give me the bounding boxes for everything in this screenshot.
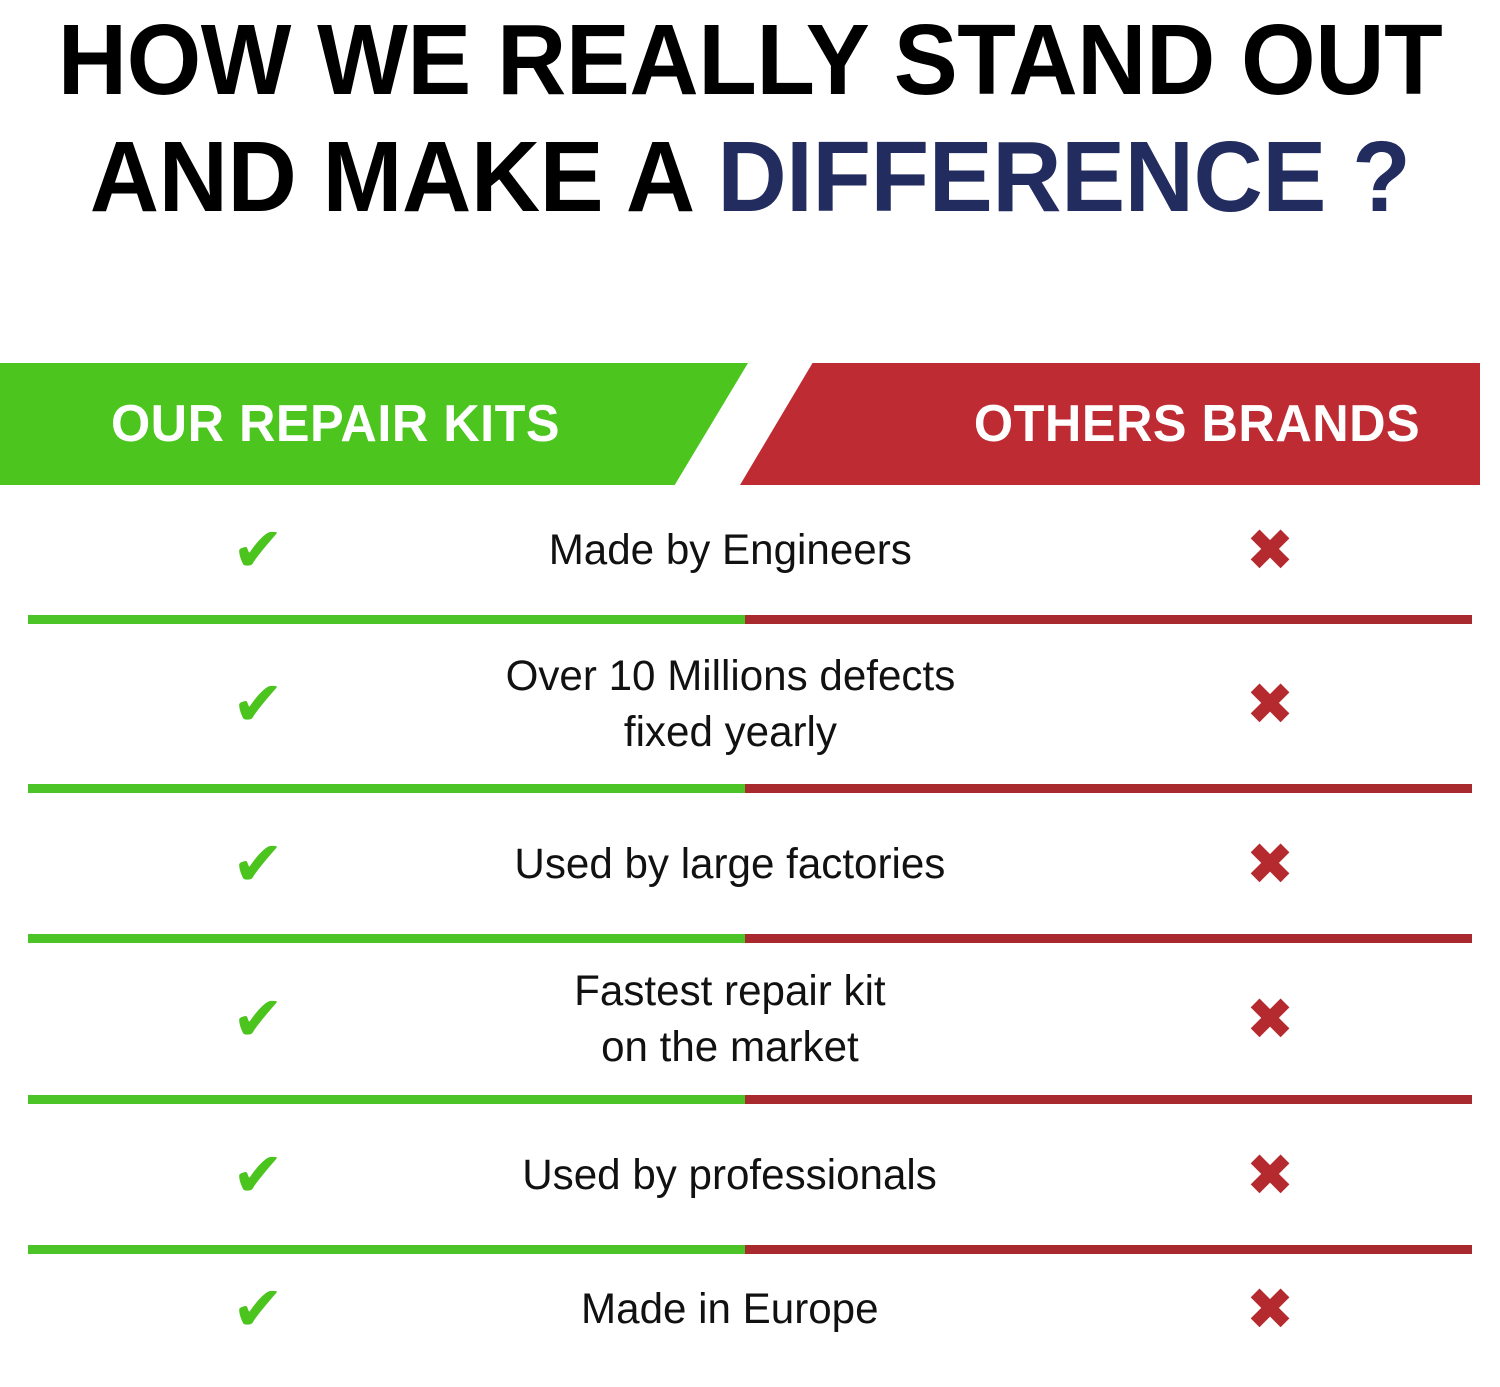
cross-icon: ✖ (1246, 835, 1295, 893)
check-icon: ✔ (232, 833, 284, 895)
row-1-ours-cell: ✔ (210, 519, 306, 581)
cross-icon: ✖ (1246, 1146, 1295, 1204)
feature-label: Used by professionals (523, 1147, 938, 1203)
page-title-accent: DIFFERENCE ? (717, 121, 1410, 233)
row-4-feature-cell: Fastest repair kit on the market (330, 963, 1130, 1075)
table-row: ✔ Used by large factories ✖ (0, 793, 1500, 934)
row-divider-red (745, 784, 1472, 793)
cross-icon: ✖ (1246, 1280, 1295, 1338)
feature-label: Fastest repair kit on the market (574, 963, 885, 1075)
check-icon: ✔ (232, 1144, 284, 1206)
page-title-line-1: HOW WE REALLY STAND OUT (30, 2, 1470, 119)
banner-our-repair-kits: OUR REPAIR KITS (0, 363, 748, 485)
row-2-others-cell: ✖ (1222, 675, 1318, 733)
feature-label: Used by large factories (515, 836, 946, 892)
row-divider-red (745, 934, 1472, 943)
row-divider-green (28, 615, 745, 624)
row-3-others-cell: ✖ (1222, 835, 1318, 893)
row-4-ours-cell: ✔ (210, 988, 306, 1050)
row-5-others-cell: ✖ (1222, 1146, 1318, 1204)
row-divider (0, 1245, 1500, 1254)
row-divider-green (28, 784, 745, 793)
banner-others-brands-label: OTHERS BRANDS (974, 398, 1420, 450)
row-2-feature-cell: Over 10 Millions defects fixed yearly (330, 648, 1130, 760)
row-divider (0, 934, 1500, 943)
comparison-table: ✔ Made by Engineers ✖ ✔ Over 10 Millions… (0, 485, 1500, 1364)
table-row: ✔ Over 10 Millions defects fixed yearly … (0, 624, 1500, 784)
page-title: HOW WE REALLY STAND OUT AND MAKE A DIFFE… (0, 0, 1500, 236)
feature-label: Made in Europe (581, 1281, 879, 1337)
banner-others-brands: OTHERS BRANDS (740, 363, 1480, 485)
banner-our-repair-kits-label: OUR REPAIR KITS (111, 398, 560, 450)
table-row: ✔ Made in Europe ✖ (0, 1254, 1500, 1364)
row-divider (0, 784, 1500, 793)
row-5-feature-cell: Used by professionals (330, 1147, 1130, 1203)
check-icon: ✔ (232, 673, 284, 735)
row-1-feature-cell: Made by Engineers (330, 522, 1130, 578)
row-6-ours-cell: ✔ (210, 1278, 306, 1340)
row-1-others-cell: ✖ (1222, 521, 1318, 579)
row-4-others-cell: ✖ (1222, 990, 1318, 1048)
check-icon: ✔ (232, 988, 284, 1050)
row-3-feature-cell: Used by large factories (330, 836, 1130, 892)
feature-label: Made by Engineers (548, 522, 911, 578)
row-divider-red (745, 615, 1472, 624)
row-2-ours-cell: ✔ (210, 673, 306, 735)
check-icon: ✔ (232, 1278, 284, 1340)
check-icon: ✔ (232, 519, 284, 581)
feature-label: Over 10 Millions defects fixed yearly (505, 648, 955, 760)
page-title-line-2: AND MAKE A DIFFERENCE ? (30, 119, 1470, 236)
row-divider (0, 1095, 1500, 1104)
page-title-line-2-prefix: AND MAKE A (90, 121, 718, 233)
comparison-header: OUR REPAIR KITS OTHERS BRANDS (0, 363, 1500, 485)
row-divider-red (745, 1095, 1472, 1104)
cross-icon: ✖ (1246, 990, 1295, 1048)
row-divider (0, 615, 1500, 624)
row-3-ours-cell: ✔ (210, 833, 306, 895)
cross-icon: ✖ (1246, 521, 1295, 579)
row-divider-green (28, 1095, 745, 1104)
table-row: ✔ Fastest repair kit on the market ✖ (0, 943, 1500, 1095)
row-6-others-cell: ✖ (1222, 1280, 1318, 1338)
row-divider-red (745, 1245, 1472, 1254)
cross-icon: ✖ (1246, 675, 1295, 733)
table-row: ✔ Made by Engineers ✖ (0, 485, 1500, 615)
row-divider-green (28, 934, 745, 943)
row-5-ours-cell: ✔ (210, 1144, 306, 1206)
row-divider-green (28, 1245, 745, 1254)
row-6-feature-cell: Made in Europe (330, 1281, 1130, 1337)
table-row: ✔ Used by professionals ✖ (0, 1104, 1500, 1245)
